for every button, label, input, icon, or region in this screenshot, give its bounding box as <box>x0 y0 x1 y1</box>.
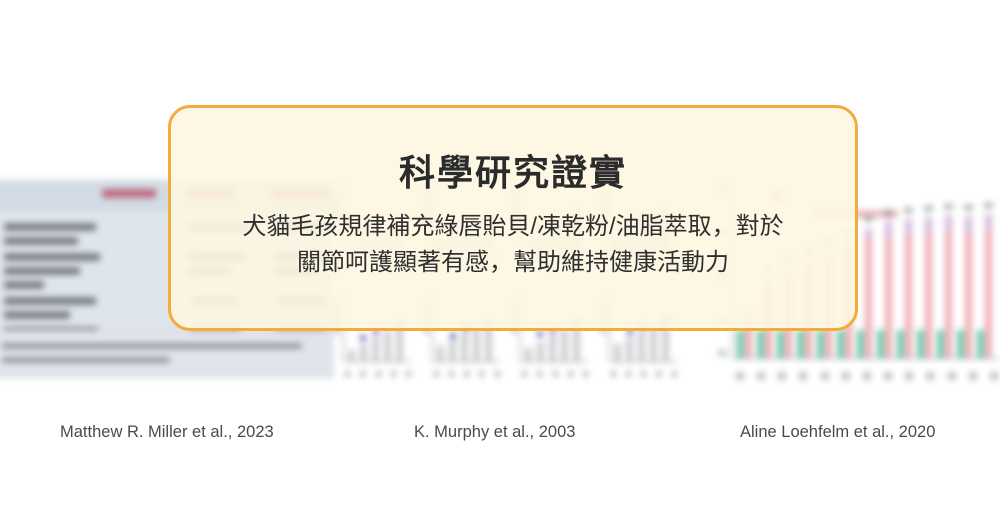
citation-row: Matthew R. Miller et al., 2023 K. Murphy… <box>0 420 1000 460</box>
citation-loehfelm-2020: Aline Loehfelm et al., 2020 <box>740 420 935 444</box>
table-header-cell <box>102 189 156 198</box>
slide-canvas: 科學研究證實 犬貓毛孩規律補充綠唇貽貝/凍乾粉/油脂萃取，對於 關節呵護顯著有感… <box>0 0 1000 527</box>
science-evidence-card: 科學研究證實 犬貓毛孩規律補充綠唇貽貝/凍乾粉/油脂萃取，對於 關節呵護顯著有感… <box>168 105 858 331</box>
citation-murphy-2003: K. Murphy et al., 2003 <box>414 420 575 444</box>
citation-miller-2023: Matthew R. Miller et al., 2023 <box>60 420 274 444</box>
card-body-line-1: 犬貓毛孩規律補充綠唇貽貝/凍乾粉/油脂萃取，對於 <box>242 209 783 245</box>
card-title: 科學研究證實 <box>399 150 627 195</box>
card-body-line-2: 關節呵護顯著有感，幫助維持健康活動力 <box>242 245 783 281</box>
table-footnote <box>0 330 340 377</box>
card-body: 犬貓毛孩規律補充綠唇貽貝/凍乾粉/油脂萃取，對於 關節呵護顯著有感，幫助維持健康… <box>242 209 783 280</box>
